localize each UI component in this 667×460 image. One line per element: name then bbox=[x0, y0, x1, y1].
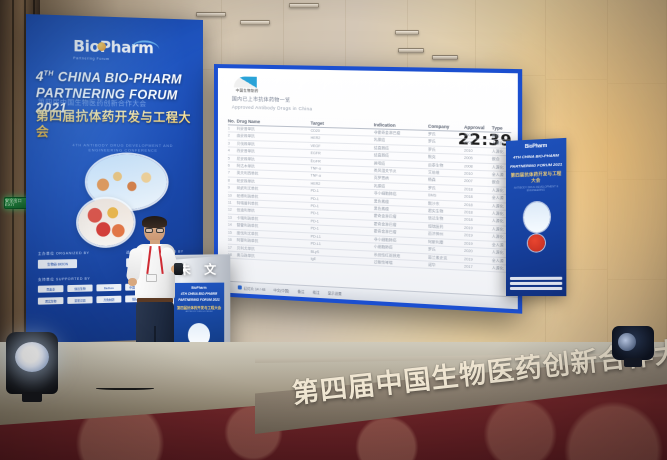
stage-spotlight-right bbox=[612, 326, 654, 360]
speaker-hair bbox=[142, 216, 167, 228]
air-vent bbox=[240, 20, 270, 25]
slide-display-settings-button: 显示设置 bbox=[328, 290, 342, 296]
table-cell: 2019 bbox=[464, 232, 492, 240]
table-cell: 2010 bbox=[464, 147, 492, 155]
table-cell: 2019 bbox=[464, 256, 492, 264]
rollup-title-line1: 4TH CHINA BIO-PHARM bbox=[509, 152, 563, 160]
photo-bubble-large bbox=[87, 154, 167, 209]
slide-company-logo-caption: 中国生物制药 bbox=[236, 87, 259, 93]
biopharm-logo-text: BioPharm bbox=[73, 37, 164, 57]
table-cell: 罗氏 bbox=[428, 139, 464, 147]
table-cell: 2018 bbox=[464, 194, 492, 202]
table-cell: 2 bbox=[228, 133, 237, 140]
rollup-sponsor-strip bbox=[510, 277, 562, 292]
air-vent bbox=[395, 30, 419, 35]
table-cell: 罗氏 bbox=[428, 185, 464, 193]
table-cell: BMS bbox=[428, 192, 464, 200]
table-cell: 默沙东 bbox=[428, 200, 464, 208]
table-cell: 5 bbox=[228, 155, 237, 162]
table-cell: 2018 bbox=[464, 209, 492, 217]
slide-comments-button: 批注 bbox=[313, 289, 320, 294]
supporter-logo: 复宏汉霖 bbox=[67, 296, 92, 304]
table-cell: 罗氏 bbox=[428, 146, 464, 154]
table-cell: 过敏性哮喘 bbox=[374, 259, 428, 268]
table-cell: 2008 bbox=[464, 163, 492, 171]
organizer-logo: 生物谷 BIOON bbox=[38, 259, 77, 269]
organized-by-label: 主办单位 ORGANIZED BY bbox=[38, 251, 111, 257]
table-cell: 嵌合 bbox=[492, 133, 511, 140]
slide-language-status: 中文(中国) bbox=[273, 287, 289, 293]
table-cell: 6 bbox=[228, 163, 237, 170]
rollup-chinese-title: 第四届抗体药开发与工程大会 bbox=[509, 171, 563, 185]
rollup-bubble-small bbox=[528, 234, 545, 251]
table-cell: 4 bbox=[228, 148, 237, 155]
table-cell: 2002 bbox=[464, 140, 492, 148]
table-cell: 2019 bbox=[464, 240, 492, 248]
backdrop-title-main: CHINA BIO-PHARM bbox=[54, 69, 182, 86]
table-cell: 百泰生物 bbox=[428, 162, 464, 170]
table-cell: 罗氏 bbox=[428, 131, 464, 139]
conference-photo-scene: 安全出口 EXIT BioPharm Partnering Forum 4TH … bbox=[0, 0, 667, 460]
air-vent bbox=[432, 55, 458, 60]
rollup-logo: BioPharm bbox=[509, 142, 563, 151]
projection-screen: 中国生物制药 国内已上市抗体药物一览 Approved Antibody Dru… bbox=[214, 64, 522, 314]
spotlight-base bbox=[22, 392, 42, 402]
logo-swoosh-icon bbox=[131, 40, 159, 50]
col-drug-name: Drug Name bbox=[237, 119, 311, 126]
table-cell: 2018 bbox=[464, 217, 492, 225]
table-cell: 17 bbox=[228, 244, 237, 251]
table-cell: 2020 bbox=[464, 248, 492, 256]
floor-cable bbox=[96, 386, 154, 390]
slide-content: 中国生物制药 国内已上市抗体药物一览 Approved Antibody Dru… bbox=[218, 68, 518, 309]
table-cell: 2005 bbox=[464, 155, 492, 163]
speaker-badge bbox=[146, 274, 157, 282]
rollup-chinese-subtitle-en: ANTIBODY DRUG DEVELOPMENT & ENGINEERING bbox=[509, 185, 563, 193]
slide-number-status: 幻灯片 14 / 48 bbox=[238, 285, 266, 292]
supporter-logo: 百奥泰 bbox=[38, 285, 64, 293]
backdrop-title-sup: TH bbox=[44, 70, 54, 77]
biopharm-logo-tagline: Partnering Forum bbox=[73, 56, 164, 62]
rollup-logo-text: BioPharm bbox=[525, 143, 547, 150]
slide-company-logo: 中国生物制药 bbox=[234, 76, 280, 93]
table-cell: 10 bbox=[228, 192, 237, 199]
table-cell: 7 bbox=[228, 170, 237, 177]
backdrop-title: 4TH CHINA BIO-PHARM PARTNERING FORUM 202… bbox=[36, 66, 197, 117]
col-company: Company bbox=[428, 124, 464, 130]
supporter-logo: 君实生物 bbox=[38, 297, 64, 305]
table-cell: 11 bbox=[228, 200, 237, 207]
spotlight-base bbox=[624, 358, 642, 367]
table-cell: 12 bbox=[228, 207, 237, 214]
table-cell: 2018 bbox=[464, 201, 492, 209]
col-no: No. bbox=[228, 118, 237, 123]
backdrop-chinese-title: 第四届抗体药开发与工程大会 bbox=[36, 108, 197, 141]
table-cell: 2019 bbox=[464, 225, 492, 233]
table-cell: 8 bbox=[228, 177, 237, 184]
slide-heading: 国内已上市抗体药物一览 Approved Antibody Drugs in C… bbox=[232, 95, 442, 115]
spotlight-lens-icon bbox=[618, 333, 636, 351]
backdrop-chinese-faint: 第四届中国生物医药创新合作大会 bbox=[38, 97, 191, 109]
supporter-logo: 齐鲁制药 bbox=[96, 296, 121, 304]
table-cell: 13 bbox=[228, 214, 237, 221]
rollup-banner: BioPharm 4TH CHINA BIO-PHARM PARTNERING … bbox=[506, 138, 566, 296]
table-cell: 2007 bbox=[464, 178, 492, 186]
backdrop-title-ordinal: 4 bbox=[36, 69, 44, 84]
table-cell: 14 bbox=[228, 222, 237, 229]
table-cell: 默克 bbox=[428, 154, 464, 162]
table-cell: 2018 bbox=[464, 186, 492, 194]
speaker-left-hand bbox=[128, 278, 137, 286]
air-vent bbox=[289, 3, 319, 8]
table-cell: 1 bbox=[228, 125, 237, 132]
supporter-logo: BioDuro bbox=[96, 284, 121, 291]
rollup-title-line2: PARTNERING FORUM 2021 bbox=[509, 161, 563, 168]
table-cell: 艾伯维 bbox=[428, 169, 464, 177]
table-cell: 杨森 bbox=[428, 177, 464, 185]
table-cell: 2010 bbox=[464, 171, 492, 179]
table-cell: 诺华 bbox=[428, 262, 464, 270]
col-target: Target bbox=[311, 121, 374, 128]
logo-dot-icon bbox=[97, 42, 106, 51]
drug-table: No. Drug Name Target Indication Company … bbox=[228, 118, 511, 273]
rollup-bubble-large bbox=[524, 202, 550, 233]
col-indication: Indication bbox=[374, 122, 428, 129]
air-vent bbox=[196, 12, 226, 17]
table-body: 1利妥昔单抗CD20非霍奇金淋巴瘤罗氏2000嵌合2曲妥珠单抗HER2乳腺癌罗氏… bbox=[228, 125, 511, 273]
supporter-logo: 信达生物 bbox=[67, 285, 92, 292]
air-vent bbox=[398, 48, 424, 53]
table-cell: 15 bbox=[228, 229, 237, 236]
backdrop-title-line2: PARTNERING FORUM 2021 bbox=[36, 85, 197, 117]
table-cell: 2000 bbox=[464, 132, 492, 139]
speaker-glasses-icon bbox=[145, 228, 164, 233]
backdrop-chinese-subtitle-en: 4TH ANTIBODY DRUG DEVELOPMENT AND ENGINE… bbox=[65, 142, 179, 153]
col-type: Type bbox=[492, 125, 511, 131]
biopharm-logo: BioPharm Partnering Forum bbox=[73, 37, 164, 65]
presentation-clicker bbox=[174, 263, 183, 275]
table-cell: 2017 bbox=[464, 263, 492, 271]
col-approval: Approval bbox=[464, 125, 492, 131]
slide-notes-button: 备注 bbox=[297, 289, 304, 294]
stage-spotlight-left bbox=[6, 332, 58, 394]
table-cell: 3 bbox=[228, 140, 237, 147]
table-cell: 9 bbox=[228, 185, 237, 192]
table-cell: 16 bbox=[228, 237, 237, 244]
spotlight-lens-icon bbox=[15, 342, 49, 372]
slide-number-text: 幻灯片 14 / 48 bbox=[244, 287, 266, 292]
